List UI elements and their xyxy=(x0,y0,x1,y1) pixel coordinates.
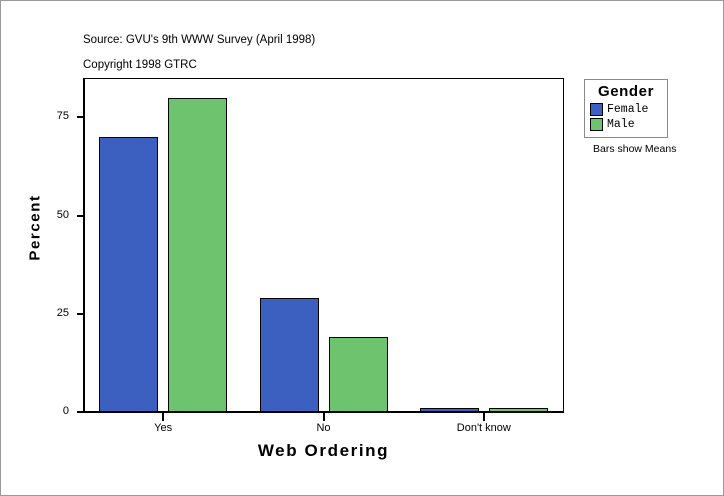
y-tick-mark xyxy=(77,116,84,118)
plot-inner xyxy=(84,79,563,412)
legend-item-label: Male xyxy=(607,118,635,131)
legend-item: Female xyxy=(590,102,662,117)
x-tick-label: Yes xyxy=(103,422,223,435)
y-tick-mark xyxy=(77,313,84,315)
bar-female-0 xyxy=(99,137,158,412)
chart-figure: Source: GVU's 9th WWW Survey (April 1998… xyxy=(0,0,724,496)
x-axis-title: Web Ordering xyxy=(83,441,564,461)
bar-female-1 xyxy=(260,298,319,412)
y-tick-mark xyxy=(77,215,84,217)
y-tick-label: 75 xyxy=(29,111,69,122)
bars-show-means-note: Bars show Means xyxy=(593,143,676,155)
legend-item: Male xyxy=(590,117,662,132)
x-tick-mark xyxy=(162,413,164,421)
x-tick-label: Don't know xyxy=(424,422,544,435)
copyright-note: Copyright 1998 GTRC xyxy=(83,58,197,72)
legend-entries: FemaleMale xyxy=(590,102,662,132)
legend: Gender FemaleMale xyxy=(584,79,668,138)
legend-item-label: Female xyxy=(607,103,648,116)
legend-title: Gender xyxy=(590,83,662,100)
y-axis-title: Percent xyxy=(27,168,44,288)
plot-area xyxy=(83,78,564,413)
legend-swatch-icon xyxy=(590,118,603,131)
bar-male-0 xyxy=(168,98,227,412)
y-tick-label: 0 xyxy=(29,406,69,417)
source-note: Source: GVU's 9th WWW Survey (April 1998… xyxy=(83,33,315,47)
y-axis-line xyxy=(83,78,85,413)
bar-male-1 xyxy=(329,337,388,412)
legend-swatch-icon xyxy=(590,103,603,116)
y-tick-mark xyxy=(77,411,84,413)
x-tick-mark xyxy=(323,413,325,421)
y-tick-label: 25 xyxy=(29,308,69,319)
x-tick-mark xyxy=(483,413,485,421)
x-tick-label: No xyxy=(264,422,384,435)
